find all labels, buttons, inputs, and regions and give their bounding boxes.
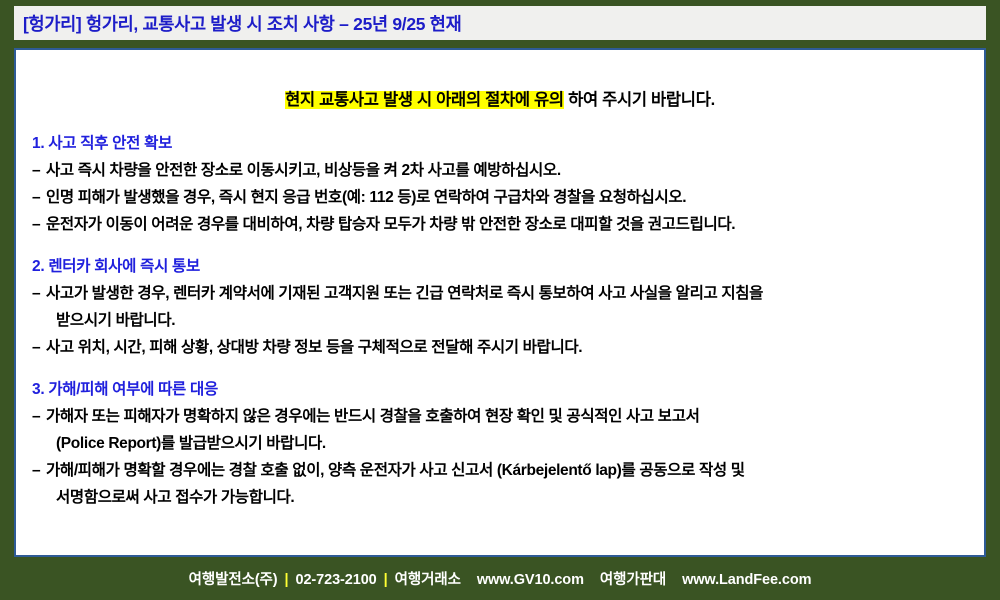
bullet-line: 운전자가 이동이 어려운 경우를 대비하여, 차량 탑승자 모두가 차량 밖 안… xyxy=(46,211,974,238)
bullet-dash: – xyxy=(32,403,40,430)
section-1-bullet-3: – 운전자가 이동이 어려운 경우를 대비하여, 차량 탑승자 모두가 차량 밖… xyxy=(32,211,974,238)
section-2-bullet-1: – 사고가 발생한 경우, 렌터카 계약서에 기재된 고객지원 또는 긴급 연락… xyxy=(32,280,974,334)
lead-line: 현지 교통사고 발생 시 아래의 절차에 유의 하여 주시기 바랍니다. xyxy=(16,86,984,110)
bullet-line: 가해/피해가 명확할 경우에는 경찰 호출 없이, 양측 운전자가 사고 신고서… xyxy=(46,457,974,484)
bullet-dash: – xyxy=(32,280,40,307)
bullet-dash: – xyxy=(32,457,40,484)
bullet-line: 사고 위치, 시간, 피해 상황, 상대방 차량 정보 등을 구체적으로 전달해… xyxy=(46,334,974,361)
bullet-line: 인명 피해가 발생했을 경우, 즉시 현지 응급 번호(예: 112 등)로 연… xyxy=(46,184,974,211)
bullet-line: 가해자 또는 피해자가 명확하지 않은 경우에는 반드시 경찰을 호출하여 현장… xyxy=(46,403,974,430)
footer-separator-2: | xyxy=(377,572,395,588)
footer-brand-1-url[interactable]: www.GV10.com xyxy=(477,572,584,588)
slide-root: [헝가리] 헝가리, 교통사고 발생 시 조치 사항 – 25년 9/25 현재… xyxy=(0,0,1000,600)
footer-separator-1: | xyxy=(278,572,296,588)
section-1-bullet-1: – 사고 즉시 차량을 안전한 장소로 이동시키고, 비상등을 켜 2차 사고를… xyxy=(32,157,974,184)
footer-phone: 02-723-2100 xyxy=(296,572,377,588)
title-bar: [헝가리] 헝가리, 교통사고 발생 시 조치 사항 – 25년 9/25 현재 xyxy=(14,6,986,40)
footer-contact-line: 여행발전소(주)|02-723-2100|여행거래소www.GV10.com여행… xyxy=(189,568,812,589)
bullet-line-cont: 받으시기 바랍니다. xyxy=(46,307,974,334)
bullet-dash: – xyxy=(32,184,40,211)
sections-list: 1. 사고 직후 안전 확보 – 사고 즉시 차량을 안전한 장소로 이동시키고… xyxy=(32,130,974,526)
section-3-heading: 3. 가해/피해 여부에 따른 대응 xyxy=(32,376,974,403)
bullet-dash: – xyxy=(32,211,40,238)
bullet-dash: – xyxy=(32,157,40,184)
footer-brand-2-url[interactable]: www.LandFee.com xyxy=(682,572,811,588)
footer-bar: 여행발전소(주)|02-723-2100|여행거래소www.GV10.com여행… xyxy=(0,557,1000,600)
section-3: 3. 가해/피해 여부에 따른 대응 – 가해자 또는 피해자가 명확하지 않은… xyxy=(32,376,974,511)
section-1-bullet-2: – 인명 피해가 발생했을 경우, 즉시 현지 응급 번호(예: 112 등)로… xyxy=(32,184,974,211)
section-1: 1. 사고 직후 안전 확보 – 사고 즉시 차량을 안전한 장소로 이동시키고… xyxy=(32,130,974,238)
section-1-heading: 1. 사고 직후 안전 확보 xyxy=(32,130,974,157)
section-2: 2. 렌터카 회사에 즉시 통보 – 사고가 발생한 경우, 렌터카 계약서에 … xyxy=(32,253,974,361)
lead-plain: 하여 주시기 바랍니다. xyxy=(564,91,715,109)
bullet-line-cont: (Police Report)를 발급받으시기 바랍니다. xyxy=(46,430,974,457)
bullet-line-cont: 서명함으로써 사고 접수가 가능합니다. xyxy=(46,484,974,511)
footer-brand-2-label: 여행가판대 xyxy=(600,572,666,588)
section-2-heading: 2. 렌터카 회사에 즉시 통보 xyxy=(32,253,974,280)
bullet-line: 사고 즉시 차량을 안전한 장소로 이동시키고, 비상등을 켜 2차 사고를 예… xyxy=(46,157,974,184)
footer-company: 여행발전소(주) xyxy=(189,572,278,588)
content-panel: 현지 교통사고 발생 시 아래의 절차에 유의 하여 주시기 바랍니다. 1. … xyxy=(14,48,986,557)
page-title: [헝가리] 헝가리, 교통사고 발생 시 조치 사항 – 25년 9/25 현재 xyxy=(14,11,461,36)
bullet-line: 사고가 발생한 경우, 렌터카 계약서에 기재된 고객지원 또는 긴급 연락처로… xyxy=(46,280,974,307)
section-2-bullet-2: – 사고 위치, 시간, 피해 상황, 상대방 차량 정보 등을 구체적으로 전… xyxy=(32,334,974,361)
section-3-bullet-1: – 가해자 또는 피해자가 명확하지 않은 경우에는 반드시 경찰을 호출하여 … xyxy=(32,403,974,457)
bullet-dash: – xyxy=(32,334,40,361)
footer-brand-1-label: 여행거래소 xyxy=(395,572,461,588)
section-3-bullet-2: – 가해/피해가 명확할 경우에는 경찰 호출 없이, 양측 운전자가 사고 신… xyxy=(32,457,974,511)
lead-highlight: 현지 교통사고 발생 시 아래의 절차에 유의 xyxy=(285,91,564,109)
